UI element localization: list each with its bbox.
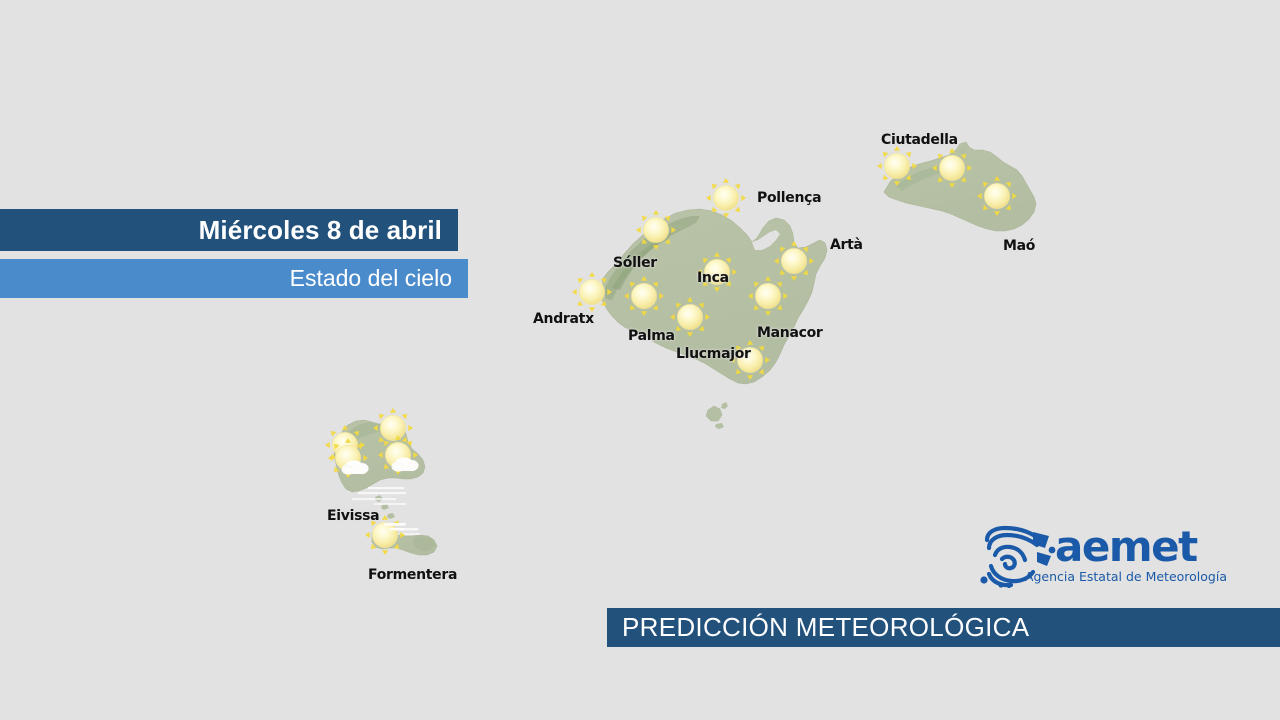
aemet-logo: aemet Agencia Estatal de Meteorología	[975, 522, 1227, 590]
city-label-eivissa: Eivissa	[327, 508, 379, 524]
city-label-soller: Sóller	[613, 255, 657, 271]
city-label-manacor: Manacor	[757, 325, 823, 341]
channel-lines	[352, 487, 406, 505]
city-label-inca: Inca	[697, 270, 729, 286]
forecast-date-label: Miércoles 8 de abril	[199, 215, 442, 246]
city-label-pollenca: Pollença	[757, 190, 821, 206]
partly-cloudy-icon	[375, 432, 421, 478]
forecast-subtitle-label: Estado del cielo	[290, 265, 452, 292]
sunny-icon	[621, 273, 667, 319]
city-label-formentera: Formentera	[368, 567, 457, 583]
sunny-icon	[569, 269, 615, 315]
sunny-icon	[929, 145, 975, 191]
prediction-banner-label: PREDICCIÓN METEOROLÓGICA	[622, 612, 1029, 643]
city-label-andratx: Andratx	[533, 311, 594, 327]
sunny-icon	[874, 143, 920, 189]
prediction-banner: PREDICCIÓN METEOROLÓGICA	[607, 608, 1280, 647]
islet-b	[381, 504, 389, 510]
formentera-relief	[413, 536, 435, 551]
island-cabrera	[706, 402, 728, 429]
aemet-wordmark: aemet	[1055, 524, 1227, 570]
aemet-tagline: Agencia Estatal de Meteorología	[1020, 569, 1227, 584]
sunny-icon	[745, 273, 791, 319]
city-label-ciutadella: Ciutadella	[881, 132, 958, 148]
city-label-palma: Palma	[628, 328, 675, 344]
city-label-mao: Maó	[1003, 238, 1035, 254]
forecast-date-bar: Miércoles 8 de abril	[0, 209, 458, 251]
islet-a	[375, 495, 383, 502]
sunny-icon	[633, 207, 679, 253]
forecast-subtitle-bar: Estado del cielo	[0, 259, 468, 298]
city-label-llucmajor: Llucmajor	[676, 346, 751, 362]
weather-map-screen: PollençaCiutadellaMaóArtàSóllerIncaAndra…	[0, 0, 1280, 720]
sunny-icon	[974, 173, 1020, 219]
sunny-icon	[703, 175, 749, 221]
city-label-arta: Artà	[830, 237, 863, 253]
partly-cloudy-icon	[325, 435, 371, 481]
svg-text:aemet: aemet	[1055, 524, 1198, 570]
